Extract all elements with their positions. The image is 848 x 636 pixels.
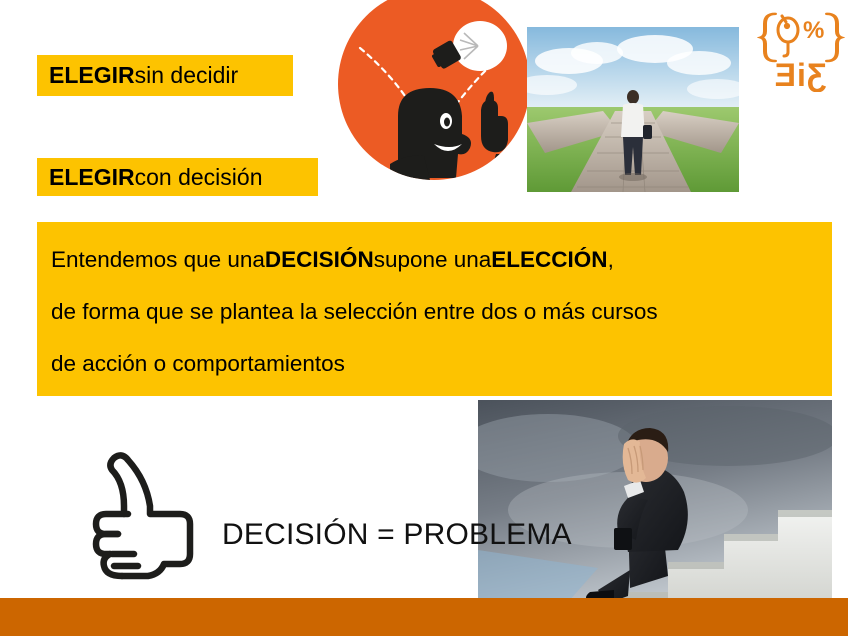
paragraph-line-2: de forma que se plantea la selección ent… <box>51 286 818 338</box>
main-paragraph-block: Entendemos que una DECISIÓN supone una E… <box>37 222 832 396</box>
presentation-slide: ELEGIR sin decidir ELEGIR con decisión <box>0 0 848 636</box>
paragraph-line-1-eleccion: ELECCIÓN <box>491 249 607 272</box>
paragraph-line-1-decision: DECISIÓN <box>265 249 374 272</box>
bottom-caption: DECISIÓN = PROBLEMA <box>222 518 572 552</box>
paragraph-line-1-part-a: Entendemos que una <box>51 249 265 272</box>
crossroads-photo <box>527 27 739 192</box>
thumbs-up-icon <box>88 448 206 588</box>
paragraph-line-1-part-e: , <box>608 249 614 272</box>
logo-percent: % <box>803 17 824 44</box>
highlight-label-1-rest: sin decidir <box>135 62 239 89</box>
highlight-label-1-strong: ELEGIR <box>49 62 135 89</box>
highlight-label-elegir-sin-decidir: ELEGIR sin decidir <box>37 55 293 96</box>
bottom-orange-bar <box>0 598 848 636</box>
paragraph-line-1: Entendemos que una DECISIÓN supone una E… <box>51 234 818 286</box>
highlight-label-2-rest: con decisión <box>135 164 263 191</box>
idea-lightbulb-illustration <box>338 0 530 180</box>
paragraph-line-1-part-c: supone una <box>374 249 492 272</box>
brand-logo: % ƎiƸ <box>757 4 845 92</box>
highlight-label-2-strong: ELEGIR <box>49 164 135 191</box>
highlight-label-elegir-con-decision: ELEGIR con decisión <box>37 158 318 196</box>
paragraph-line-3: de acción o comportamientos <box>51 338 818 390</box>
logo-wordmark: ƎiƸ <box>775 57 828 92</box>
